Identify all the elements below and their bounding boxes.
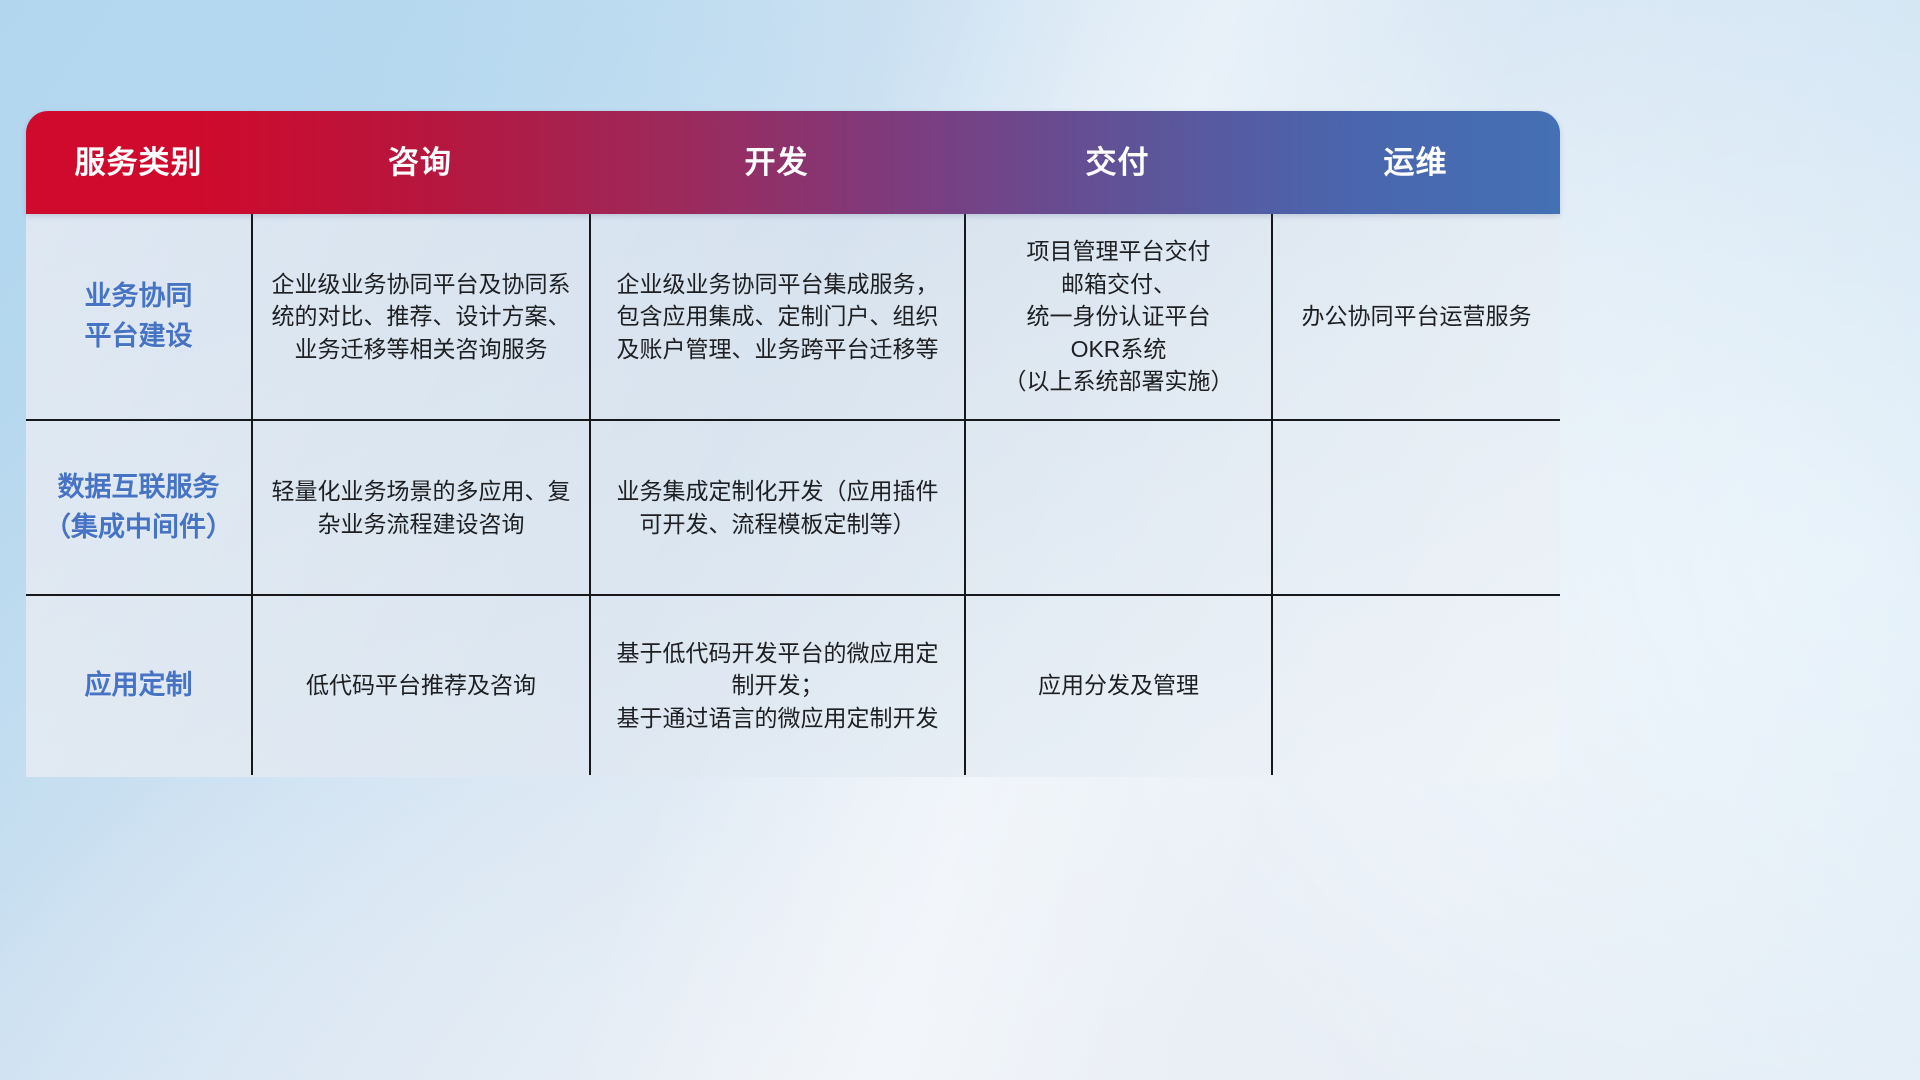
row-label-text: 数据互联服务 （集成中间件） [44, 468, 233, 546]
cell-delivery [964, 421, 1271, 594]
cell-delivery: 项目管理平台交付 邮箱交付、 统一身份认证平台 OKR系统 （以上系统部署实施） [964, 214, 1271, 419]
column-header-operations: 运维 [1271, 147, 1560, 178]
cell-development: 企业级业务协同平台集成服务， 包含应用集成、定制门户、组织 及账户管理、业务跨平… [589, 214, 964, 419]
cell-text: 低代码平台推荐及咨询 [306, 669, 536, 702]
table-row: 应用定制 低代码平台推荐及咨询 基于低代码开发平台的微应用定 制开发； 基于通过… [26, 594, 1560, 775]
cell-consulting: 轻量化业务场景的多应用、复 杂业务流程建设咨询 [251, 421, 589, 594]
cell-consulting: 企业级业务协同平台及协同系 统的对比、推荐、设计方案、 业务迁移等相关咨询服务 [251, 214, 589, 419]
cell-text: 业务集成定制化开发（应用插件 可开发、流程模板定制等） [617, 475, 939, 540]
row-label-cell: 数据互联服务 （集成中间件） [26, 421, 251, 594]
column-header-delivery: 交付 [964, 147, 1271, 178]
cell-text: 企业级业务协同平台及协同系 统的对比、推荐、设计方案、 业务迁移等相关咨询服务 [272, 268, 571, 366]
table-header-row: 服务类别 咨询 开发 交付 运维 [26, 111, 1560, 214]
row-label-cell: 应用定制 [26, 596, 251, 775]
cell-operations [1271, 596, 1560, 775]
table-row: 业务协同 平台建设 企业级业务协同平台及协同系 统的对比、推荐、设计方案、 业务… [26, 214, 1560, 419]
cell-operations: 办公协同平台运营服务 [1271, 214, 1560, 419]
cell-development: 基于低代码开发平台的微应用定 制开发； 基于通过语言的微应用定制开发 [589, 596, 964, 775]
service-matrix-table: 服务类别 咨询 开发 交付 运维 业务协同 平台建设 企业级业务协同平台及协同系… [26, 111, 1560, 777]
cell-text: 项目管理平台交付 邮箱交付、 统一身份认证平台 OKR系统 （以上系统部署实施） [1004, 235, 1234, 398]
cell-delivery: 应用分发及管理 [964, 596, 1271, 775]
cell-text: 应用分发及管理 [1038, 669, 1199, 702]
cell-development: 业务集成定制化开发（应用插件 可开发、流程模板定制等） [589, 421, 964, 594]
column-header-category: 服务类别 [26, 147, 251, 178]
row-label-text: 应用定制 [85, 666, 193, 705]
cell-consulting: 低代码平台推荐及咨询 [251, 596, 589, 775]
row-label-text: 业务协同 平台建设 [85, 277, 193, 355]
column-header-consulting: 咨询 [251, 147, 589, 178]
column-header-development: 开发 [589, 147, 964, 178]
table-body: 业务协同 平台建设 企业级业务协同平台及协同系 统的对比、推荐、设计方案、 业务… [26, 214, 1560, 777]
row-label-cell: 业务协同 平台建设 [26, 214, 251, 419]
cell-text: 企业级业务协同平台集成服务， 包含应用集成、定制门户、组织 及账户管理、业务跨平… [617, 268, 939, 366]
cell-text: 轻量化业务场景的多应用、复 杂业务流程建设咨询 [272, 475, 571, 540]
cell-operations [1271, 421, 1560, 594]
table-row: 数据互联服务 （集成中间件） 轻量化业务场景的多应用、复 杂业务流程建设咨询 业… [26, 419, 1560, 594]
cell-text: 办公协同平台运营服务 [1302, 300, 1532, 333]
cell-text: 基于低代码开发平台的微应用定 制开发； 基于通过语言的微应用定制开发 [617, 637, 939, 735]
